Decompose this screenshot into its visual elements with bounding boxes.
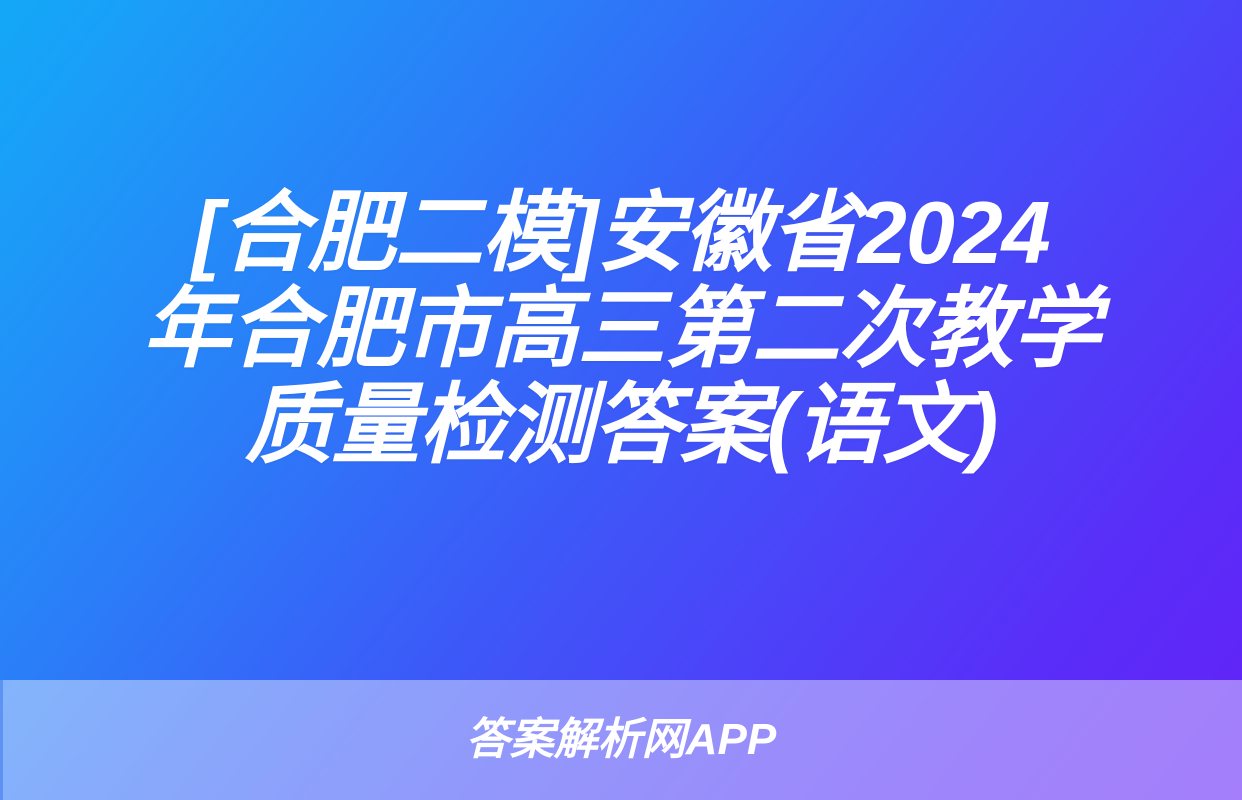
title-line-3: 质量检测答案(语文) <box>40 377 1202 473</box>
title-line-1: [合肥二模]安徽省2024 <box>40 185 1202 281</box>
watermark-band: 答案解析网APP <box>0 680 1242 800</box>
poster-canvas: [合肥二模]安徽省2024 年合肥市高三第二次教学 质量检测答案(语文) 答案解… <box>0 0 1242 800</box>
title-line-2: 年合肥市高三第二次教学 <box>40 281 1202 377</box>
page-title: [合肥二模]安徽省2024 年合肥市高三第二次教学 质量检测答案(语文) <box>0 185 1242 473</box>
watermark-label: 答案解析网APP <box>466 715 776 765</box>
band-left-edge <box>0 680 3 800</box>
